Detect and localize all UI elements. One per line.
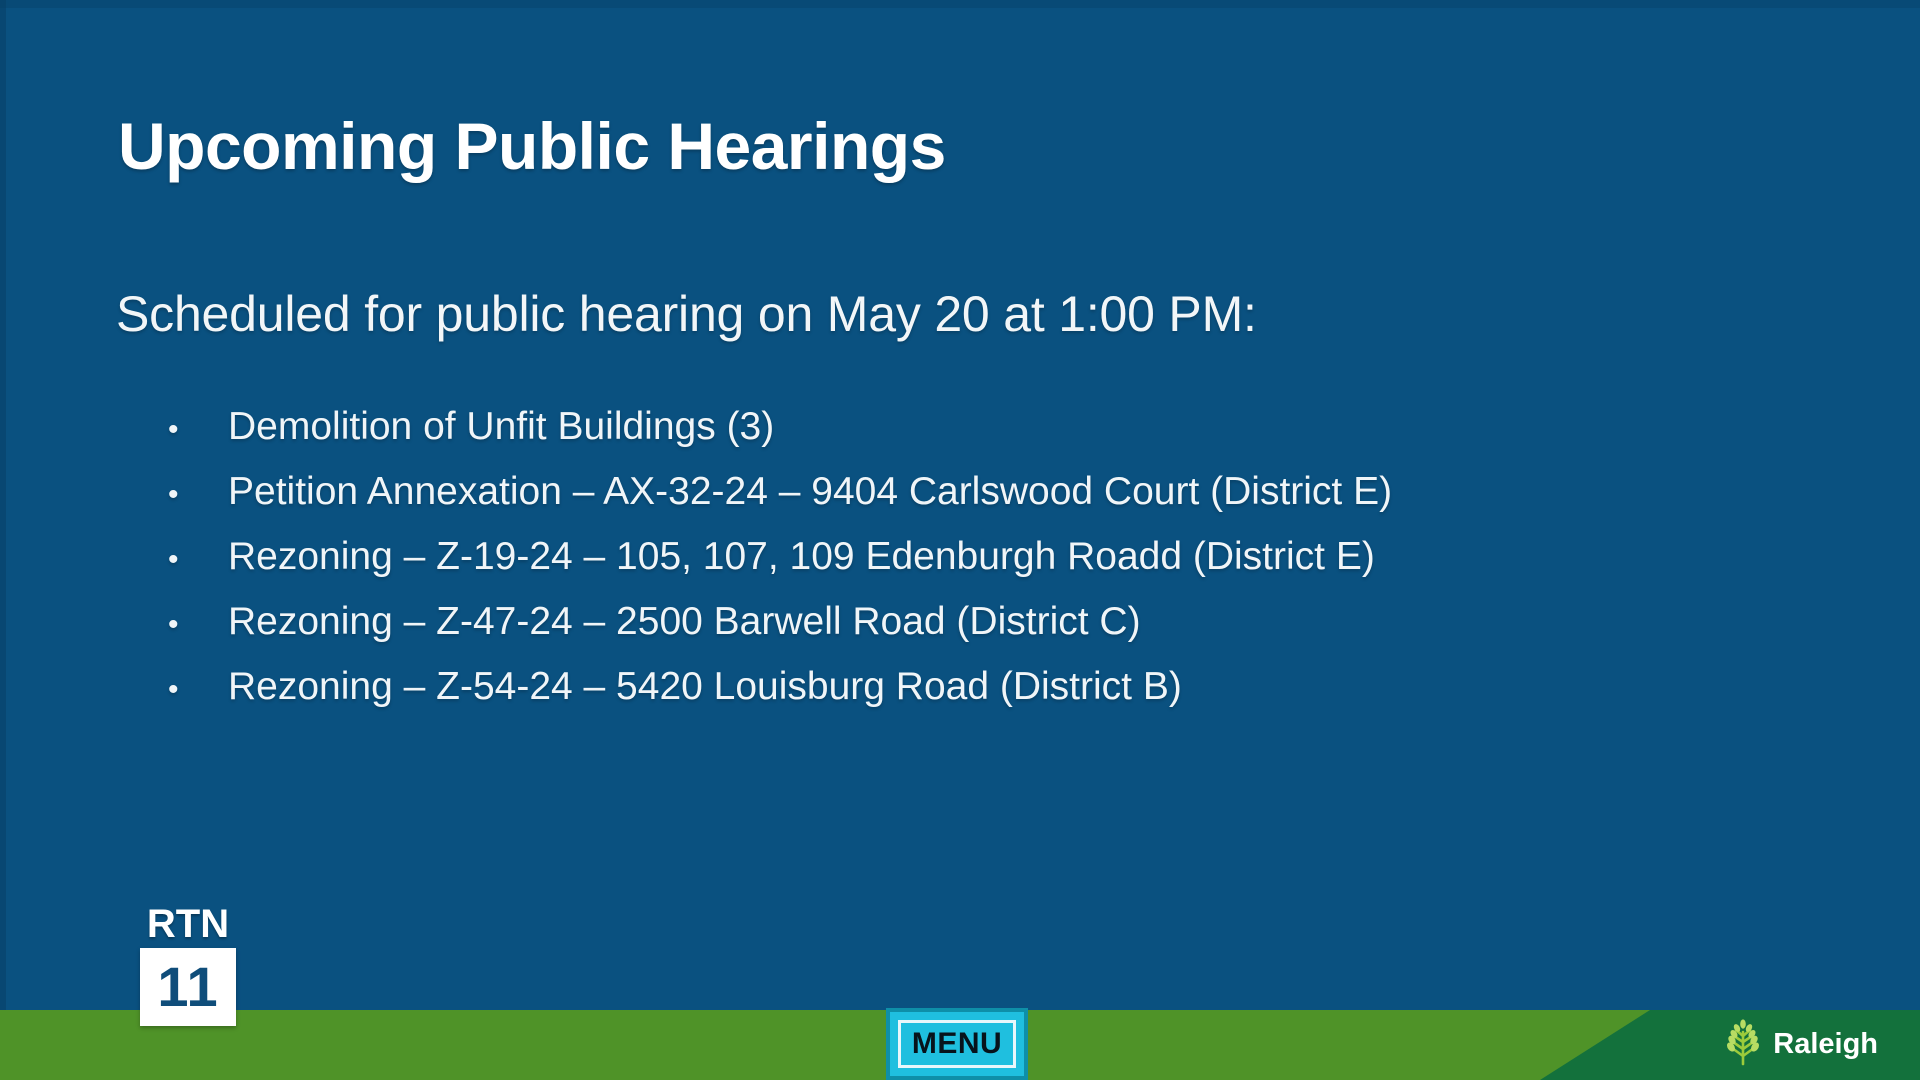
- station-channel-number: 11: [157, 958, 218, 1016]
- station-callsign: RTN: [140, 902, 236, 946]
- menu-button-label: MENU: [912, 1027, 1002, 1061]
- bullet-point-icon: •: [168, 545, 228, 575]
- bullet-point-icon: •: [168, 675, 228, 705]
- station-logo: RTN 11: [140, 902, 236, 1026]
- list-item-label: Rezoning – Z-47-24 – 2500 Barwell Road (…: [228, 600, 1141, 644]
- oak-tree-icon: [1721, 1018, 1765, 1071]
- station-channel-box: 11: [140, 948, 236, 1026]
- bullet-point-icon: •: [168, 610, 228, 640]
- slide-subtitle: Scheduled for public hearing on May 20 a…: [116, 285, 1257, 343]
- page-title: Upcoming Public Hearings: [118, 108, 946, 184]
- list-item-label: Petition Annexation – AX-32-24 – 9404 Ca…: [228, 470, 1392, 514]
- list-item: • Rezoning – Z-54-24 – 5420 Louisburg Ro…: [168, 665, 1868, 730]
- bullet-point-icon: •: [168, 480, 228, 510]
- list-item-label: Demolition of Unfit Buildings (3): [228, 405, 774, 449]
- hearing-items-list: • Demolition of Unfit Buildings (3) • Pe…: [168, 405, 1868, 730]
- slide-canvas: Upcoming Public Hearings Scheduled for p…: [0, 0, 1920, 1010]
- city-logo-label: Raleigh: [1773, 1028, 1878, 1061]
- city-logo: Raleigh: [1721, 1018, 1878, 1070]
- broadcast-slide-screen: Upcoming Public Hearings Scheduled for p…: [0, 0, 1920, 1080]
- bullet-point-icon: •: [168, 415, 228, 445]
- list-item: • Demolition of Unfit Buildings (3): [168, 405, 1868, 470]
- list-item-label: Rezoning – Z-54-24 – 5420 Louisburg Road…: [228, 665, 1182, 709]
- list-item: • Petition Annexation – AX-32-24 – 9404 …: [168, 470, 1868, 535]
- menu-button[interactable]: MENU: [886, 1008, 1028, 1080]
- list-item: • Rezoning – Z-19-24 – 105, 107, 109 Ede…: [168, 535, 1868, 600]
- list-item: • Rezoning – Z-47-24 – 2500 Barwell Road…: [168, 600, 1868, 665]
- menu-button-inner-border: MENU: [898, 1020, 1016, 1068]
- list-item-label: Rezoning – Z-19-24 – 105, 107, 109 Edenb…: [228, 535, 1375, 579]
